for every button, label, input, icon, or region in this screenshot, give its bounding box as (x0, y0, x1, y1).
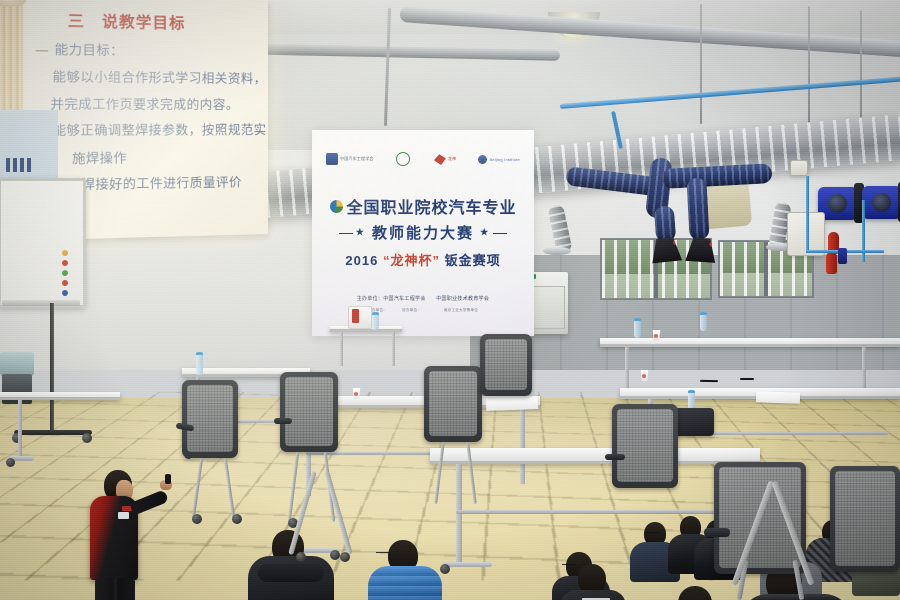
duct-flange-left (543, 247, 571, 255)
water-bottle-back-2 (700, 312, 707, 331)
paper-cup-right (640, 370, 649, 381)
chair-arm (704, 528, 730, 537)
chair-caster (192, 514, 202, 524)
banner-title-line2: ★ 教师能力大赛 ★ (312, 222, 534, 243)
circle-emblem-icon (396, 152, 410, 166)
sponsor-logo-1 (396, 152, 412, 166)
hoodie-hood (258, 564, 324, 582)
banner-sub-line: 承办单位： 协办单位： 南京工业大学等单位 (312, 308, 534, 313)
whiteboard-magnet-green (62, 270, 68, 276)
table-stand-caster (296, 552, 306, 562)
longshen-icon (434, 153, 446, 165)
banner-dash-right (493, 233, 507, 235)
table-far-left (0, 392, 120, 400)
chair-mid-back (480, 334, 532, 396)
banner-title-line2-text: 教师能力大赛 (372, 225, 474, 242)
worksheet-right (756, 391, 800, 404)
glasses-icon (644, 532, 660, 536)
sponsor-logo-3-text: Beijing Institute (489, 157, 520, 162)
banner-title-line3: 2016 “龙神杯” 钣金赛项 (312, 250, 534, 269)
ceiling-hanger-rod (700, 4, 702, 124)
table-leg (520, 408, 525, 484)
air-hose-reel-right (862, 182, 900, 222)
whiteboard-base (14, 430, 92, 435)
whiteboard-stand-post (50, 303, 54, 433)
air-valve-unit (838, 248, 847, 264)
banner-dash-left (339, 233, 353, 235)
torso (368, 566, 442, 600)
banner-title-line1: 全国职业院校汽车专业 (312, 194, 534, 218)
chair-arm (274, 418, 292, 424)
table-rail (456, 510, 740, 514)
whiteboard-pen-tray (2, 300, 80, 306)
slide-line-2: 并完成工作页要求完成的内容。 (50, 93, 238, 113)
photo-scene: 三 说教学目标 一 能力目标： 能够以小组合作形式学习相关资料， 并完成工作页要… (0, 0, 900, 600)
presenter-pants-seam (114, 578, 117, 600)
chair-left (182, 380, 238, 458)
banner-logo-row: 中国汽车工程学会 龙神 Beijing Institute (326, 150, 520, 168)
valve-red-right (826, 252, 837, 274)
worksheet-center (486, 397, 538, 411)
banner-cup-name: “龙神杯” (383, 253, 440, 268)
table-leg (456, 464, 462, 564)
water-bottle-left (196, 352, 203, 375)
pen-right (700, 380, 718, 382)
supply-red-item (352, 309, 359, 323)
banner-organizer-line: 主办单位：中国汽车工程学会 中国职业技术教育学会 (312, 295, 534, 302)
slide-line-4: 施焊操作 (72, 147, 127, 167)
whiteboard-magnet-orange (62, 250, 68, 256)
whiteboard (0, 178, 86, 308)
whiteboard-magnet-blue (62, 290, 68, 296)
table-leg (625, 347, 629, 391)
university-icon (478, 155, 487, 164)
wall-socket-box (790, 160, 808, 176)
chair-caster (232, 514, 242, 524)
star-icon-left: ★ (356, 227, 366, 237)
banner-event-name: 钣金赛项 (445, 253, 501, 268)
table-leg (18, 400, 22, 460)
chair-far-right (830, 466, 900, 572)
presenter-badge (118, 512, 129, 519)
pen-right-2 (740, 378, 754, 380)
star-icon-right: ★ (480, 227, 490, 237)
banner-title-line1-text: 全国职业院校汽车专业 (346, 200, 516, 217)
chair-center-left (280, 372, 338, 452)
slide-bullet-marker: 一 (35, 40, 49, 60)
supply-bottle (372, 312, 379, 330)
supply-table-leg (340, 332, 343, 366)
slide-heading: 能力目标： (55, 38, 124, 59)
table-caster (330, 550, 340, 560)
window-mullion (764, 242, 768, 296)
table-back-right (600, 338, 900, 347)
table-front-center (430, 448, 760, 464)
water-bottle-back (634, 318, 641, 338)
table-caster (6, 458, 15, 467)
chair-right-front (612, 404, 678, 488)
glasses-icon (562, 564, 576, 568)
chair-center (424, 366, 482, 442)
slide-line-3: 能够正确调整焊接参数，按照规范实 (53, 119, 267, 139)
blue-supply-pipe-v (806, 176, 809, 252)
slide-title: 三 说教学目标 (68, 9, 260, 35)
slide-line-1: 能够以小组合作形式学习相关资料， (53, 66, 267, 87)
whiteboard-magnet-red (62, 260, 68, 266)
whiteboard-magnet-red-2 (62, 280, 68, 286)
event-banner: 中国汽车工程学会 龙神 Beijing Institute 全国职业院校汽车专业… (312, 130, 534, 336)
supply-table-leg (392, 332, 395, 366)
whiteboard-caster-right (82, 433, 92, 443)
bench-equipment (0, 352, 34, 376)
table-leg (862, 347, 866, 389)
sponsor-logo-2: 龙神 (434, 152, 456, 166)
sponsor-logo-0: 中国汽车工程学会 (326, 152, 374, 166)
banner-year: 2016 (345, 253, 378, 268)
slide-line-5: 对焊接好的工件进行质量评价 (68, 171, 242, 193)
presenter-remote (165, 474, 171, 484)
chair-arm (605, 454, 625, 460)
sponsor-logo-2-text: 龙神 (448, 156, 456, 162)
sponsor-logo-0-text: 中国汽车工程学会 (340, 156, 374, 162)
table-stand-caster-2 (340, 552, 350, 562)
poster-bar-graphic (6, 158, 32, 172)
table-caster (440, 564, 450, 574)
glasses-icon (376, 552, 390, 556)
globe-icon (329, 199, 344, 214)
sponsor-logo-3: Beijing Institute (478, 152, 520, 166)
ceiling-hanger-rod (808, 6, 810, 126)
china-sae-icon (326, 153, 338, 165)
